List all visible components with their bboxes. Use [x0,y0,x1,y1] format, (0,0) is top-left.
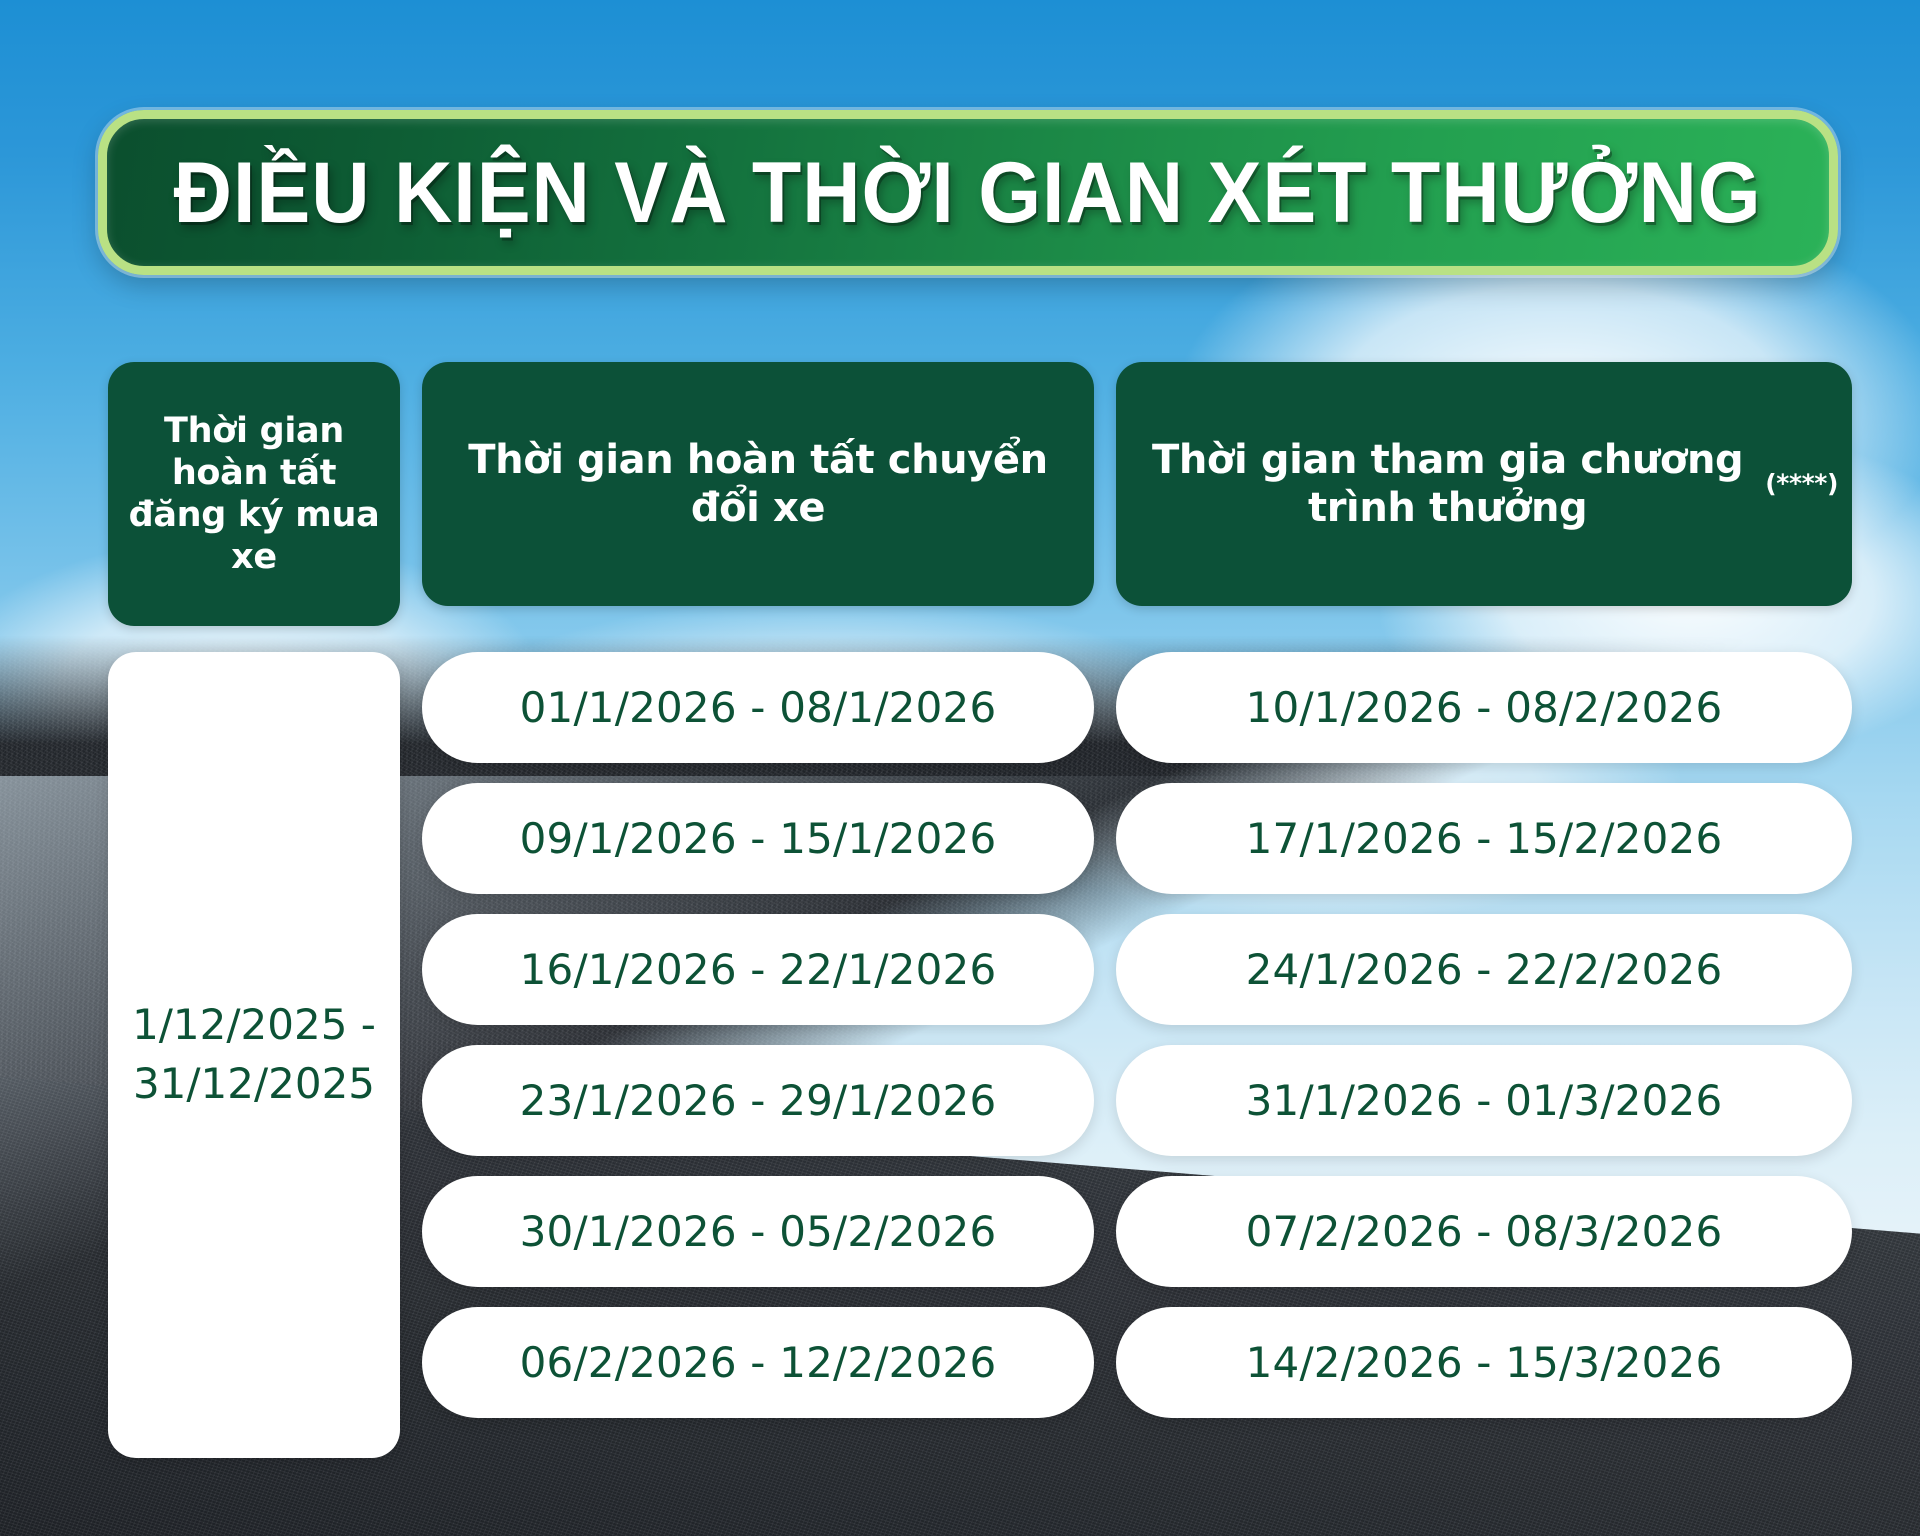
column-header-conversion-time: Thời gian hoàn tất chuyển đổi xe [422,362,1094,606]
column-conversion-dates: 01/1/2026 - 08/1/2026 09/1/2026 - 15/1/2… [422,652,1094,1458]
table-row: 14/2/2026 - 15/3/2026 [1116,1307,1852,1418]
column-header-reward-time-label: Thời gian tham gia chương trình thưởng [1130,436,1765,532]
column-reward-dates: 10/1/2026 - 08/2/2026 17/1/2026 - 15/2/2… [1116,652,1852,1458]
date-columns-wrapper: 01/1/2026 - 08/1/2026 09/1/2026 - 15/1/2… [422,652,1852,1458]
table-header-row: Thời gian hoàn tất đăng ký mua xe Thời g… [108,362,1852,626]
column-header-registration-time: Thời gian hoàn tất đăng ký mua xe [108,362,400,626]
title-banner: ĐIỀU KIỆN VÀ THỜI GIAN XÉT THƯỞNG [98,110,1838,275]
table-row: 07/2/2026 - 08/3/2026 [1116,1176,1852,1287]
table-row: 09/1/2026 - 15/1/2026 [422,783,1094,894]
conditions-table: Thời gian hoàn tất đăng ký mua xe Thời g… [108,362,1852,1458]
table-row: 01/1/2026 - 08/1/2026 [422,652,1094,763]
table-row: 17/1/2026 - 15/2/2026 [1116,783,1852,894]
table-row: 23/1/2026 - 29/1/2026 [422,1045,1094,1156]
page-title: ĐIỀU KIỆN VÀ THỜI GIAN XÉT THƯỞNG [174,150,1762,236]
table-row: 24/1/2026 - 22/2/2026 [1116,914,1852,1025]
infographic-stage: ĐIỀU KIỆN VÀ THỜI GIAN XÉT THƯỞNG Thời g… [0,0,1920,1536]
merged-cell-registration-period: 1/12/2025 - 31/12/2025 [108,652,400,1458]
table-row: 10/1/2026 - 08/2/2026 [1116,652,1852,763]
table-row: 06/2/2026 - 12/2/2026 [422,1307,1094,1418]
footnote-marker: (****) [1765,469,1838,499]
column-header-reward-time: Thời gian tham gia chương trình thưởng(*… [1116,362,1852,606]
table-row: 31/1/2026 - 01/3/2026 [1116,1045,1852,1156]
table-body: 1/12/2025 - 31/12/2025 01/1/2026 - 08/1/… [108,652,1852,1458]
table-row: 16/1/2026 - 22/1/2026 [422,914,1094,1025]
table-row: 30/1/2026 - 05/2/2026 [422,1176,1094,1287]
